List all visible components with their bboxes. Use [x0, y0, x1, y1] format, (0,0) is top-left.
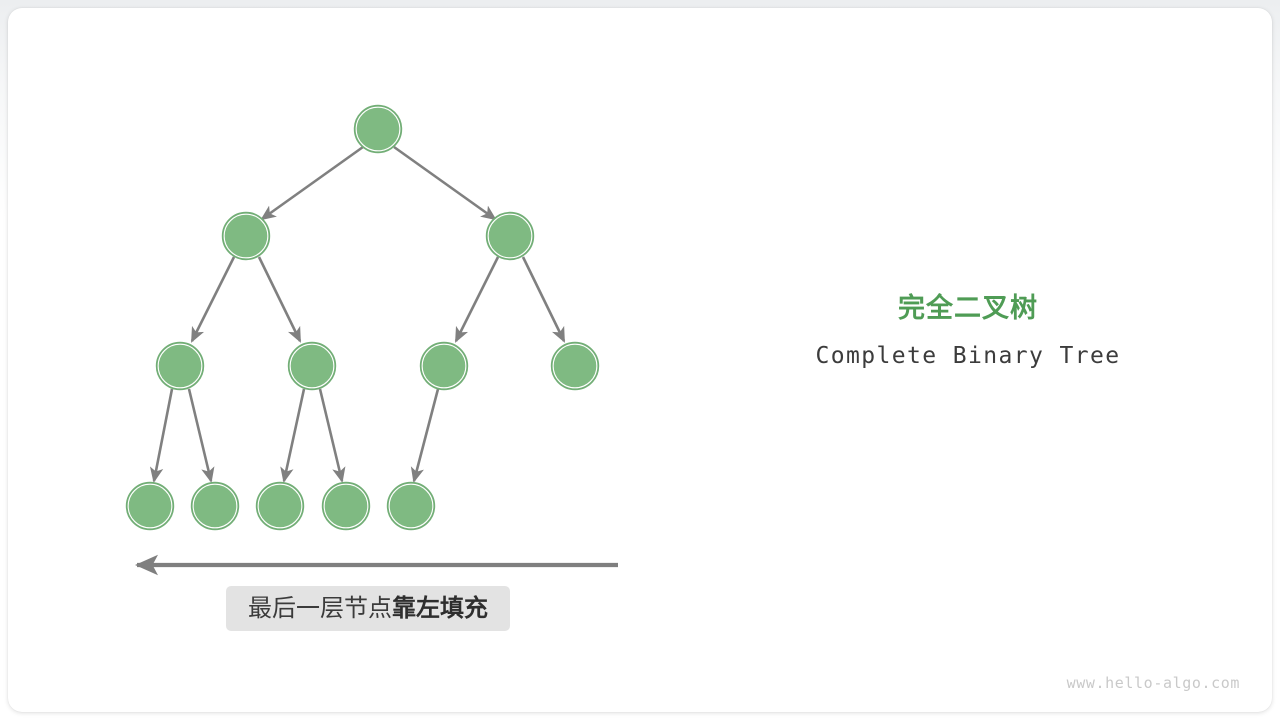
tree-node[interactable]	[127, 483, 174, 530]
fill-label-strong: 靠左填充	[392, 597, 488, 621]
tree-edge	[189, 389, 211, 481]
tree-edge	[523, 257, 564, 341]
tree-edges	[154, 147, 564, 481]
tree-node[interactable]	[289, 343, 336, 390]
fill-label-prefix: 最后一层节点	[248, 597, 392, 621]
watermark: www.hello-algo.com	[1067, 674, 1240, 692]
tree-edge	[262, 147, 363, 219]
tree-edge	[414, 389, 438, 481]
tree-edge	[456, 257, 498, 341]
tree-node[interactable]	[323, 483, 370, 530]
tree-node[interactable]	[355, 106, 402, 153]
tree-node[interactable]	[487, 213, 534, 260]
screenshot-stage: 最后一层节点靠左填充 完全二叉树 Complete Binary Tree ww…	[0, 0, 1280, 720]
tree-edge	[320, 389, 342, 481]
tree-edge	[154, 389, 172, 481]
tree-edge	[259, 257, 300, 341]
tree-node[interactable]	[257, 483, 304, 530]
tree-node[interactable]	[421, 343, 468, 390]
tree-edge	[192, 257, 234, 341]
tree-edge	[284, 389, 304, 481]
tree-node[interactable]	[223, 213, 270, 260]
tree-edge	[394, 147, 495, 219]
tree-node[interactable]	[552, 343, 599, 390]
tree-node[interactable]	[388, 483, 435, 530]
caption-subtitle: Complete Binary Tree	[740, 343, 1196, 369]
tree-node[interactable]	[157, 343, 204, 390]
fill-direction-label: 最后一层节点靠左填充	[226, 586, 510, 631]
tree-nodes	[127, 106, 599, 530]
caption-block: 完全二叉树 Complete Binary Tree	[740, 292, 1196, 369]
caption-title: 完全二叉树	[740, 292, 1196, 324]
tree-node[interactable]	[192, 483, 239, 530]
